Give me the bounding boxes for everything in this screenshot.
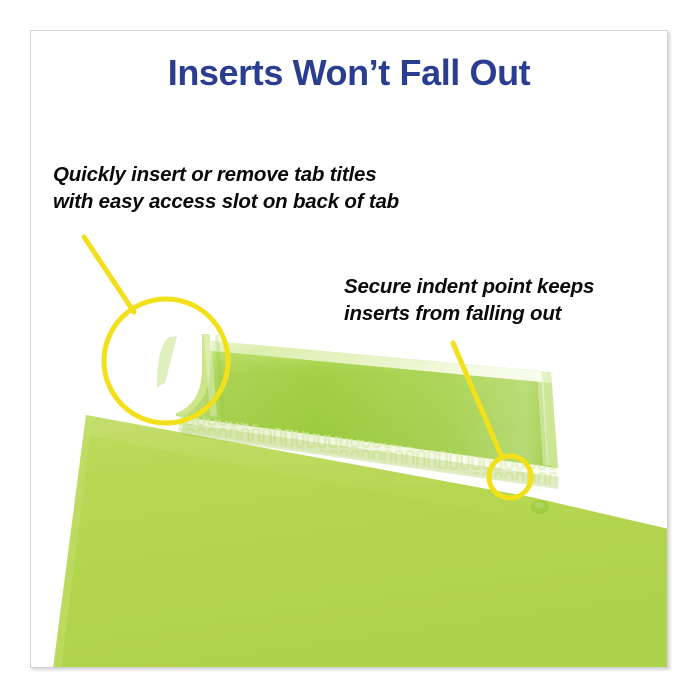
product-photo-artwork: [31, 31, 668, 668]
callout-leader-line-left: [84, 237, 134, 312]
callout-right-line-1: Secure indent point keeps: [344, 273, 668, 300]
callout-right-line-2: inserts from falling out: [344, 300, 668, 327]
callout-left-line-2: with easy access slot on back of tab: [53, 188, 523, 215]
callout-label-easy-access-slot: Quickly insert or remove tab titles with…: [53, 161, 523, 216]
callout-left-line-1: Quickly insert or remove tab titles: [53, 161, 523, 188]
product-feature-image: Inserts Won’t Fall Out Quickly insert or…: [0, 0, 700, 700]
photo-frame: Inserts Won’t Fall Out Quickly insert or…: [30, 30, 668, 668]
callout-label-secure-indent-point: Secure indent point keeps inserts from f…: [344, 273, 668, 328]
page-title: Inserts Won’t Fall Out: [31, 53, 667, 93]
